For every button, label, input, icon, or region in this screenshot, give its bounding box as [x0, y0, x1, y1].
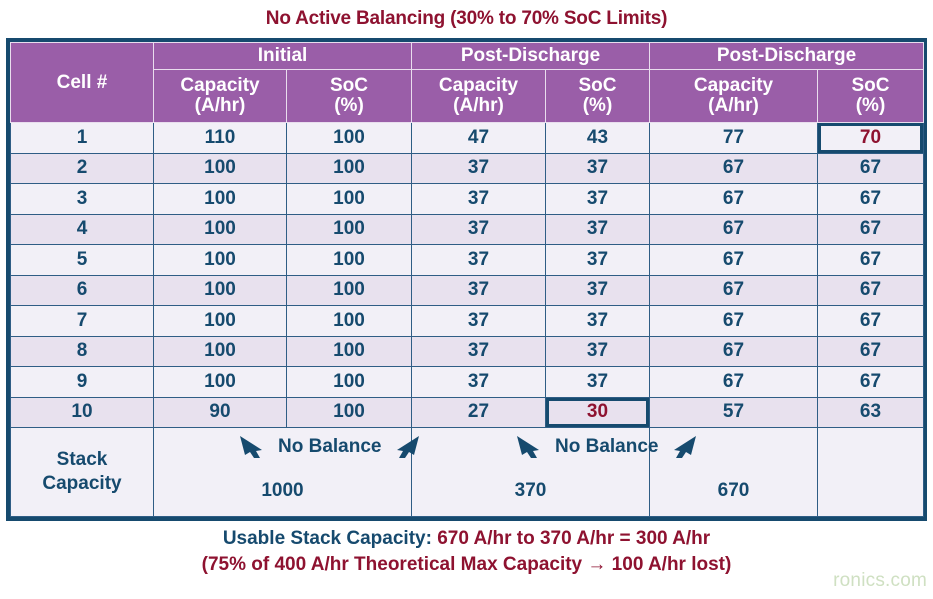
- cell-post2-capacity: 57: [650, 397, 818, 428]
- cell-post1-capacity: 37: [412, 275, 546, 306]
- header-post2-capacity: Capacity (A/hr): [650, 70, 818, 123]
- table-row: 410010037376767: [11, 214, 924, 245]
- cell-initial-soc: 100: [287, 397, 412, 428]
- cell-cell-number: 5: [11, 245, 154, 276]
- cell-initial-capacity: 110: [154, 123, 287, 154]
- cell-post2-soc: 67: [818, 275, 924, 306]
- header-initial-soc: SoC (%): [287, 70, 412, 123]
- table-row: 910010037376767: [11, 367, 924, 398]
- cell-cell-number: 10: [11, 397, 154, 428]
- table-row: 810010037376767: [11, 336, 924, 367]
- header-initial-soc-name: SoC: [287, 76, 411, 96]
- table-row: 109010027305763: [11, 397, 924, 428]
- cell-initial-soc: 100: [287, 306, 412, 337]
- cell-post2-soc: 67: [818, 306, 924, 337]
- stack-capacity-label-line1: Stack: [11, 448, 153, 472]
- footer-line-2: (75% of 400 A/hr Theoretical Max Capacit…: [0, 552, 933, 578]
- cell-cell-number: 2: [11, 153, 154, 184]
- header-post1-capacity-unit: (A/hr): [412, 96, 545, 116]
- cell-post2-soc: 63: [818, 397, 924, 428]
- cell-initial-capacity: 90: [154, 397, 287, 428]
- cell-cell-number: 6: [11, 275, 154, 306]
- header-post2-soc: SoC (%): [818, 70, 924, 123]
- table-row: 710010037376767: [11, 306, 924, 337]
- footer-line-1: Usable Stack Capacity: 670 A/hr to 370 A…: [0, 526, 933, 552]
- cell-post1-capacity: 47: [412, 123, 546, 154]
- cell-initial-soc: 100: [287, 275, 412, 306]
- cell-post2-capacity: 67: [650, 306, 818, 337]
- cell-initial-soc: 100: [287, 153, 412, 184]
- header-post2-capacity-unit: (A/hr): [650, 96, 817, 116]
- cell-post1-soc: 43: [546, 123, 650, 154]
- cell-post2-capacity: 67: [650, 336, 818, 367]
- footer-line-1-rest: 670 A/hr to 370 A/hr = 300 A/hr: [437, 528, 710, 549]
- cell-initial-soc: 100: [287, 123, 412, 154]
- cell-post2-soc: 67: [818, 214, 924, 245]
- cell-post1-capacity: 37: [412, 214, 546, 245]
- table-row: 510010037376767: [11, 245, 924, 276]
- cell-post1-capacity: 37: [412, 336, 546, 367]
- header-post1-soc: SoC (%): [546, 70, 650, 123]
- cell-cell-number: 4: [11, 214, 154, 245]
- cell-initial-soc: 100: [287, 214, 412, 245]
- header-group-initial: Initial: [154, 43, 412, 70]
- cell-post1-soc: 30: [546, 397, 650, 428]
- cell-initial-soc: 100: [287, 336, 412, 367]
- cell-initial-capacity: 100: [154, 153, 287, 184]
- stack-total-initial-value: 1000: [154, 480, 411, 516]
- stack-total-empty: [818, 428, 924, 517]
- stack-capacity-row: Stack Capacity 1000 370 670: [11, 428, 924, 517]
- header-group-post-discharge-2: Post-Discharge: [650, 43, 924, 70]
- cell-initial-capacity: 100: [154, 306, 287, 337]
- cell-post1-soc: 37: [546, 367, 650, 398]
- cell-initial-capacity: 100: [154, 245, 287, 276]
- cell-post1-capacity: 37: [412, 306, 546, 337]
- cell-cell-number: 7: [11, 306, 154, 337]
- stack-capacity-label-line2: Capacity: [11, 472, 153, 496]
- header-post1-capacity-name: Capacity: [412, 76, 545, 96]
- cell-initial-capacity: 100: [154, 214, 287, 245]
- cell-post1-capacity: 37: [412, 153, 546, 184]
- table-row: 310010037376767: [11, 184, 924, 215]
- footer-summary: Usable Stack Capacity: 670 A/hr to 370 A…: [0, 526, 933, 577]
- header-post1-soc-unit: (%): [546, 96, 649, 116]
- header-post1-soc-name: SoC: [546, 76, 649, 96]
- header-group-row: Cell # Initial Post-Discharge Post-Disch…: [11, 43, 924, 70]
- table-head: Cell # Initial Post-Discharge Post-Disch…: [11, 43, 924, 123]
- table-body: 1110100474377702100100373767673100100373…: [11, 123, 924, 428]
- header-post1-capacity: Capacity (A/hr): [412, 70, 546, 123]
- stack-capacity-label: Stack Capacity: [11, 428, 154, 517]
- cell-post2-capacity: 67: [650, 245, 818, 276]
- cell-cell-number: 8: [11, 336, 154, 367]
- stack-total-post1-value: 370: [412, 480, 649, 516]
- header-post2-soc-unit: (%): [818, 96, 923, 116]
- cell-post1-soc: 37: [546, 214, 650, 245]
- cell-post2-capacity: 77: [650, 123, 818, 154]
- cell-post2-capacity: 67: [650, 275, 818, 306]
- cell-cell-number: 9: [11, 367, 154, 398]
- cell-post2-soc: 67: [818, 336, 924, 367]
- cell-post1-capacity: 27: [412, 397, 546, 428]
- cell-post2-soc: 70: [818, 123, 924, 154]
- cell-initial-soc: 100: [287, 245, 412, 276]
- cell-post2-soc: 67: [818, 184, 924, 215]
- cell-post1-soc: 37: [546, 153, 650, 184]
- cell-post2-capacity: 67: [650, 367, 818, 398]
- cell-post2-soc: 67: [818, 153, 924, 184]
- cell-initial-capacity: 100: [154, 184, 287, 215]
- header-group-post-discharge-1: Post-Discharge: [412, 43, 650, 70]
- cell-initial-soc: 100: [287, 184, 412, 215]
- cell-post2-capacity: 67: [650, 184, 818, 215]
- cell-post1-capacity: 37: [412, 245, 546, 276]
- cell-initial-capacity: 100: [154, 275, 287, 306]
- header-initial-soc-unit: (%): [287, 96, 411, 116]
- header-initial-capacity-name: Capacity: [154, 76, 286, 96]
- header-initial-capacity-unit: (A/hr): [154, 96, 286, 116]
- cell-post1-soc: 37: [546, 336, 650, 367]
- cell-post1-soc: 37: [546, 245, 650, 276]
- table-row: 111010047437770: [11, 123, 924, 154]
- cell-initial-capacity: 100: [154, 336, 287, 367]
- stack-total-post2: 670: [650, 428, 818, 517]
- page-title: No Active Balancing (30% to 70% SoC Limi…: [0, 0, 933, 32]
- cell-post2-capacity: 67: [650, 153, 818, 184]
- cell-cell-number: 3: [11, 184, 154, 215]
- capacity-table: Cell # Initial Post-Discharge Post-Disch…: [10, 42, 924, 517]
- table-foot: Stack Capacity 1000 370 670: [11, 428, 924, 517]
- header-post2-soc-name: SoC: [818, 76, 923, 96]
- stack-total-initial: 1000: [154, 428, 412, 517]
- header-post2-capacity-name: Capacity: [650, 76, 817, 96]
- cell-post1-soc: 37: [546, 184, 650, 215]
- table-row: 610010037376767: [11, 275, 924, 306]
- cell-post1-capacity: 37: [412, 184, 546, 215]
- cell-post2-soc: 67: [818, 367, 924, 398]
- cell-cell-number: 1: [11, 123, 154, 154]
- cell-initial-capacity: 100: [154, 367, 287, 398]
- footer-line-1-lead: Usable Stack Capacity:: [223, 528, 437, 549]
- cell-post1-capacity: 37: [412, 367, 546, 398]
- header-cell-number: Cell #: [11, 43, 154, 123]
- cell-post1-soc: 37: [546, 275, 650, 306]
- capacity-table-container: Cell # Initial Post-Discharge Post-Disch…: [6, 38, 927, 521]
- stack-total-post2-value: 670: [650, 480, 817, 516]
- cell-post1-soc: 37: [546, 306, 650, 337]
- cell-initial-soc: 100: [287, 367, 412, 398]
- stack-total-post1: 370: [412, 428, 650, 517]
- cell-post2-capacity: 67: [650, 214, 818, 245]
- table-row: 210010037376767: [11, 153, 924, 184]
- cell-post2-soc: 67: [818, 245, 924, 276]
- header-initial-capacity: Capacity (A/hr): [154, 70, 287, 123]
